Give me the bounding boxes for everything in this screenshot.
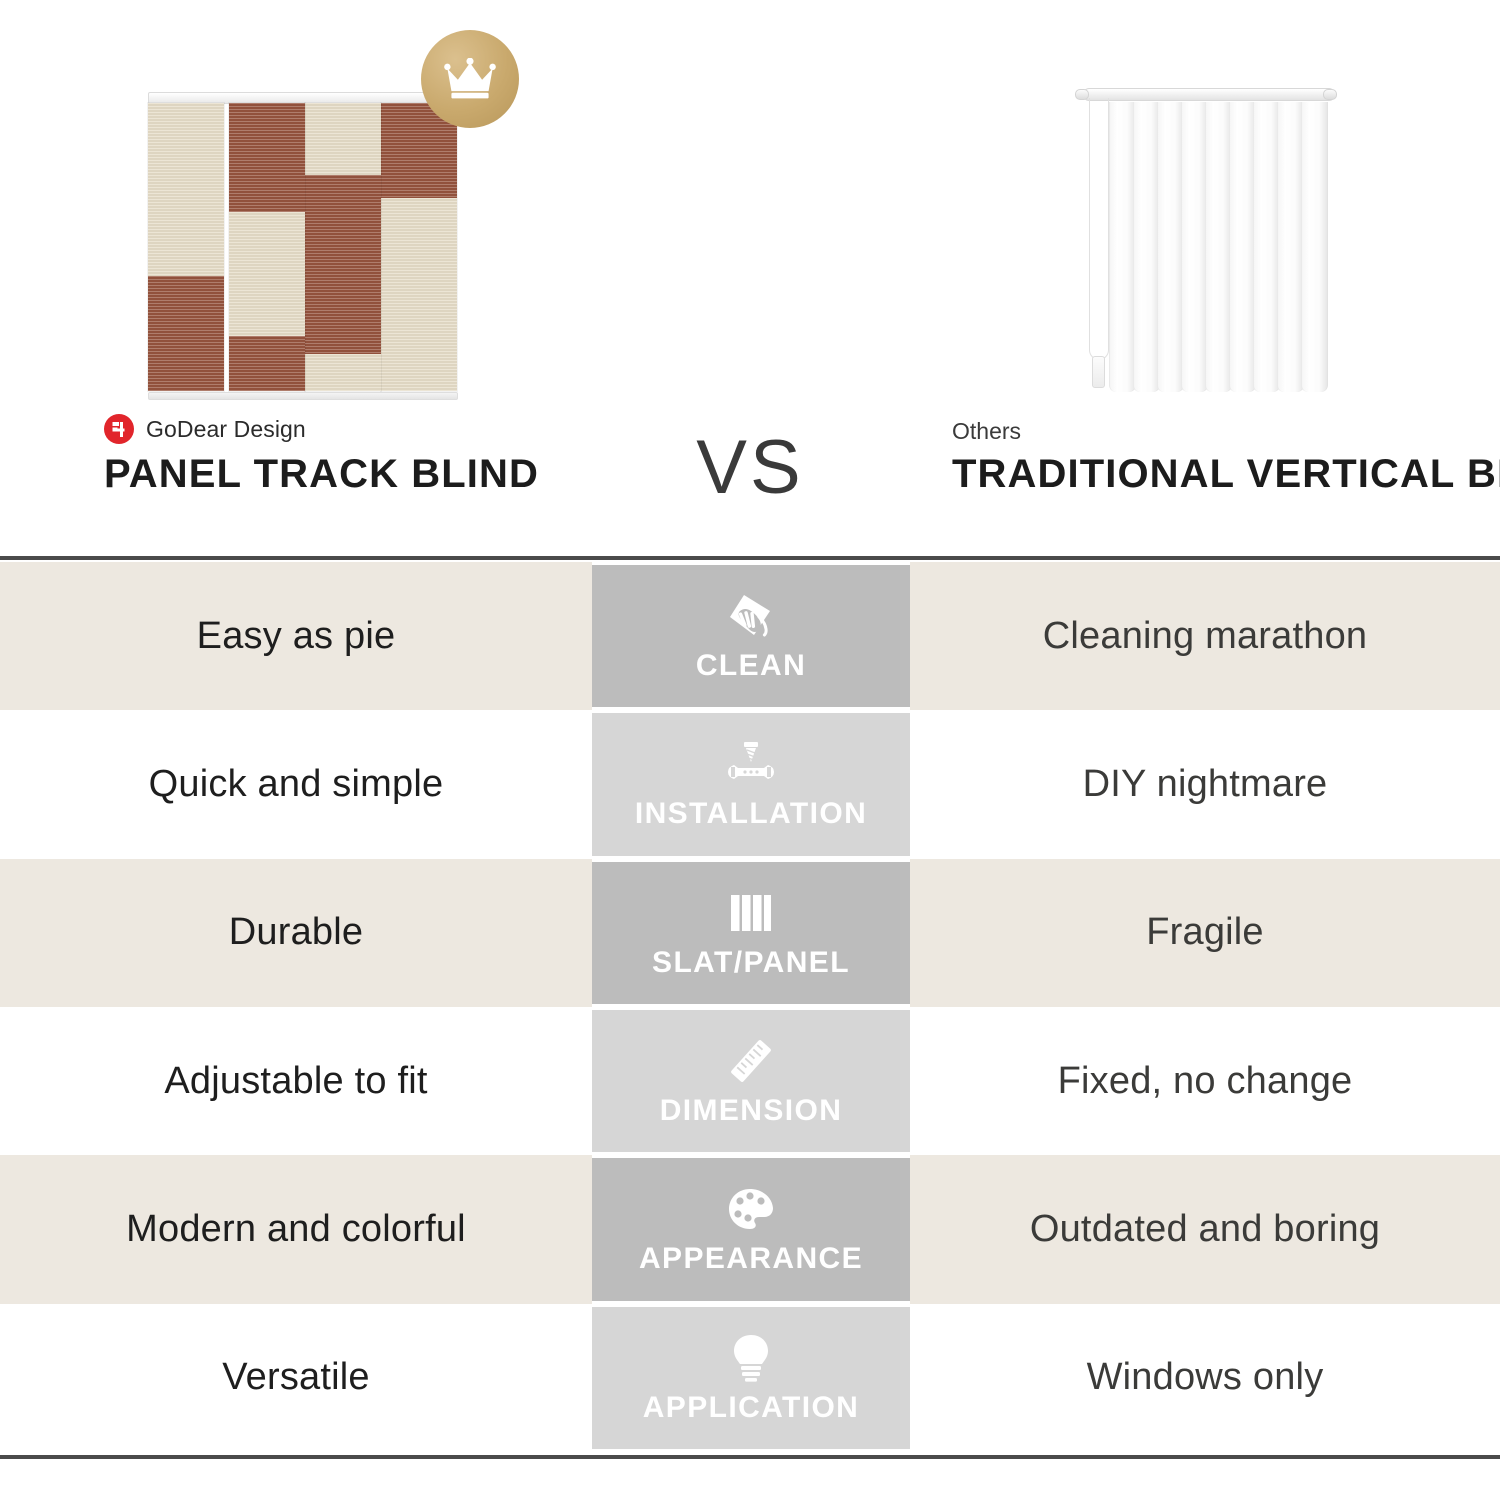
blind-slat bbox=[1157, 102, 1184, 392]
vertical-blind-image bbox=[1075, 88, 1337, 400]
blind-slat bbox=[1301, 102, 1328, 392]
category-cell: CLEAN bbox=[592, 562, 910, 710]
panel-bottom-track bbox=[148, 392, 458, 400]
category-cell: DIMENSION bbox=[592, 1007, 910, 1155]
headrail-end-cap bbox=[1323, 89, 1337, 100]
category-label: APPLICATION bbox=[643, 1393, 860, 1423]
blind-slat bbox=[1253, 102, 1280, 392]
category-label: APPEARANCE bbox=[639, 1244, 863, 1274]
table-row: Quick and simple bbox=[0, 710, 1500, 858]
panel-segment bbox=[305, 103, 381, 175]
left-value: Easy as pie bbox=[197, 615, 396, 658]
crown-badge bbox=[421, 30, 519, 128]
left-value-cell: Easy as pie bbox=[0, 562, 592, 710]
table-row: Modern and colorful APPEARANCE Out bbox=[0, 1155, 1500, 1303]
right-value: Cleaning marathon bbox=[1043, 615, 1368, 658]
hero-header: GoDear Design PANEL TRACK BLIND VS Other… bbox=[0, 0, 1500, 558]
vertical-slats-icon bbox=[724, 888, 778, 938]
table-row: Adjustable to fit bbox=[0, 1007, 1500, 1155]
category-cell: INSTALLATION bbox=[592, 710, 910, 858]
panel-segment bbox=[148, 103, 224, 276]
panel-segment bbox=[229, 336, 305, 391]
left-value: Durable bbox=[229, 911, 363, 954]
category-inner: INSTALLATION bbox=[592, 713, 910, 855]
right-eyebrow-label: Others bbox=[952, 418, 1021, 445]
bottom-divider bbox=[0, 1455, 1500, 1459]
category-cell: SLAT/PANEL bbox=[592, 859, 910, 1007]
panel-column-1 bbox=[229, 103, 305, 391]
category-inner: DIMENSION bbox=[592, 1010, 910, 1152]
category-inner: APPEARANCE bbox=[592, 1158, 910, 1300]
left-value-cell: Adjustable to fit bbox=[0, 1007, 592, 1155]
ruler-icon bbox=[724, 1036, 778, 1086]
screw-wrench-icon bbox=[724, 739, 778, 789]
category-label: CLEAN bbox=[696, 651, 806, 681]
table-row: Versatile APPLICATION Windows only bbox=[0, 1304, 1500, 1452]
left-value: Quick and simple bbox=[149, 763, 444, 806]
panel-column-3 bbox=[381, 103, 457, 391]
right-product-title: TRADITIONAL VERTICAL BLIND bbox=[952, 452, 1500, 497]
category-label: DIMENSION bbox=[660, 1096, 843, 1126]
lightbulb-icon bbox=[724, 1333, 778, 1383]
left-value-cell: Quick and simple bbox=[0, 710, 592, 858]
left-value: Adjustable to fit bbox=[164, 1060, 427, 1103]
panel-column-4 bbox=[148, 103, 224, 391]
right-value: Fixed, no change bbox=[1058, 1060, 1353, 1103]
right-value: Fragile bbox=[1146, 911, 1264, 954]
table-row: Easy as pie CLEAN Cleaning maratho bbox=[0, 562, 1500, 710]
cleaning-cloth-icon bbox=[724, 591, 778, 641]
right-value: Outdated and boring bbox=[1030, 1208, 1380, 1251]
panel-segment bbox=[148, 276, 224, 391]
category-cell: APPLICATION bbox=[592, 1304, 910, 1452]
panel-column-2 bbox=[305, 103, 381, 391]
panel-segment bbox=[305, 175, 381, 354]
left-value-cell: Durable bbox=[0, 859, 592, 1007]
vertical-blind-slats bbox=[1109, 102, 1333, 392]
blind-slat bbox=[1205, 102, 1232, 392]
panel-track-blind-image bbox=[148, 92, 458, 394]
vertical-blind-headrail bbox=[1083, 88, 1335, 101]
comparison-table: Easy as pie CLEAN Cleaning maratho bbox=[0, 562, 1500, 1452]
right-value: Windows only bbox=[1087, 1356, 1324, 1399]
right-value-cell: Windows only bbox=[910, 1304, 1500, 1452]
top-divider bbox=[0, 556, 1500, 560]
right-value-cell: Outdated and boring bbox=[910, 1155, 1500, 1303]
headrail-end-cap bbox=[1075, 89, 1089, 100]
right-value: DIY nightmare bbox=[1083, 763, 1328, 806]
panel-segment bbox=[381, 198, 457, 391]
left-value-cell: Modern and colorful bbox=[0, 1155, 592, 1303]
vertical-blind-cord-weight bbox=[1092, 356, 1105, 388]
blind-slat bbox=[1229, 102, 1256, 392]
blind-slat bbox=[1109, 102, 1136, 392]
category-cell: APPEARANCE bbox=[592, 1155, 910, 1303]
blind-slat bbox=[1181, 102, 1208, 392]
right-value-cell: Fixed, no change bbox=[910, 1007, 1500, 1155]
category-inner: SLAT/PANEL bbox=[592, 862, 910, 1004]
vertical-blind-cord bbox=[1089, 98, 1109, 360]
panel-segment bbox=[229, 103, 305, 212]
left-value: Versatile bbox=[222, 1356, 370, 1399]
category-label: SLAT/PANEL bbox=[652, 948, 850, 978]
left-value: Modern and colorful bbox=[126, 1208, 466, 1251]
category-label: INSTALLATION bbox=[635, 799, 867, 829]
panel-segment bbox=[305, 354, 381, 391]
blind-slat bbox=[1133, 102, 1160, 392]
right-value-cell: Fragile bbox=[910, 859, 1500, 1007]
panel-segment bbox=[229, 212, 305, 336]
blind-slat bbox=[1277, 102, 1304, 392]
category-inner: CLEAN bbox=[592, 565, 910, 707]
right-value-cell: Cleaning marathon bbox=[910, 562, 1500, 710]
paint-palette-icon bbox=[724, 1184, 778, 1234]
table-row: Durable SLAT/PANEL Fragile bbox=[0, 859, 1500, 1007]
category-inner: APPLICATION bbox=[592, 1307, 910, 1449]
crown-icon bbox=[444, 58, 496, 100]
left-value-cell: Versatile bbox=[0, 1304, 592, 1452]
right-value-cell: DIY nightmare bbox=[910, 710, 1500, 858]
